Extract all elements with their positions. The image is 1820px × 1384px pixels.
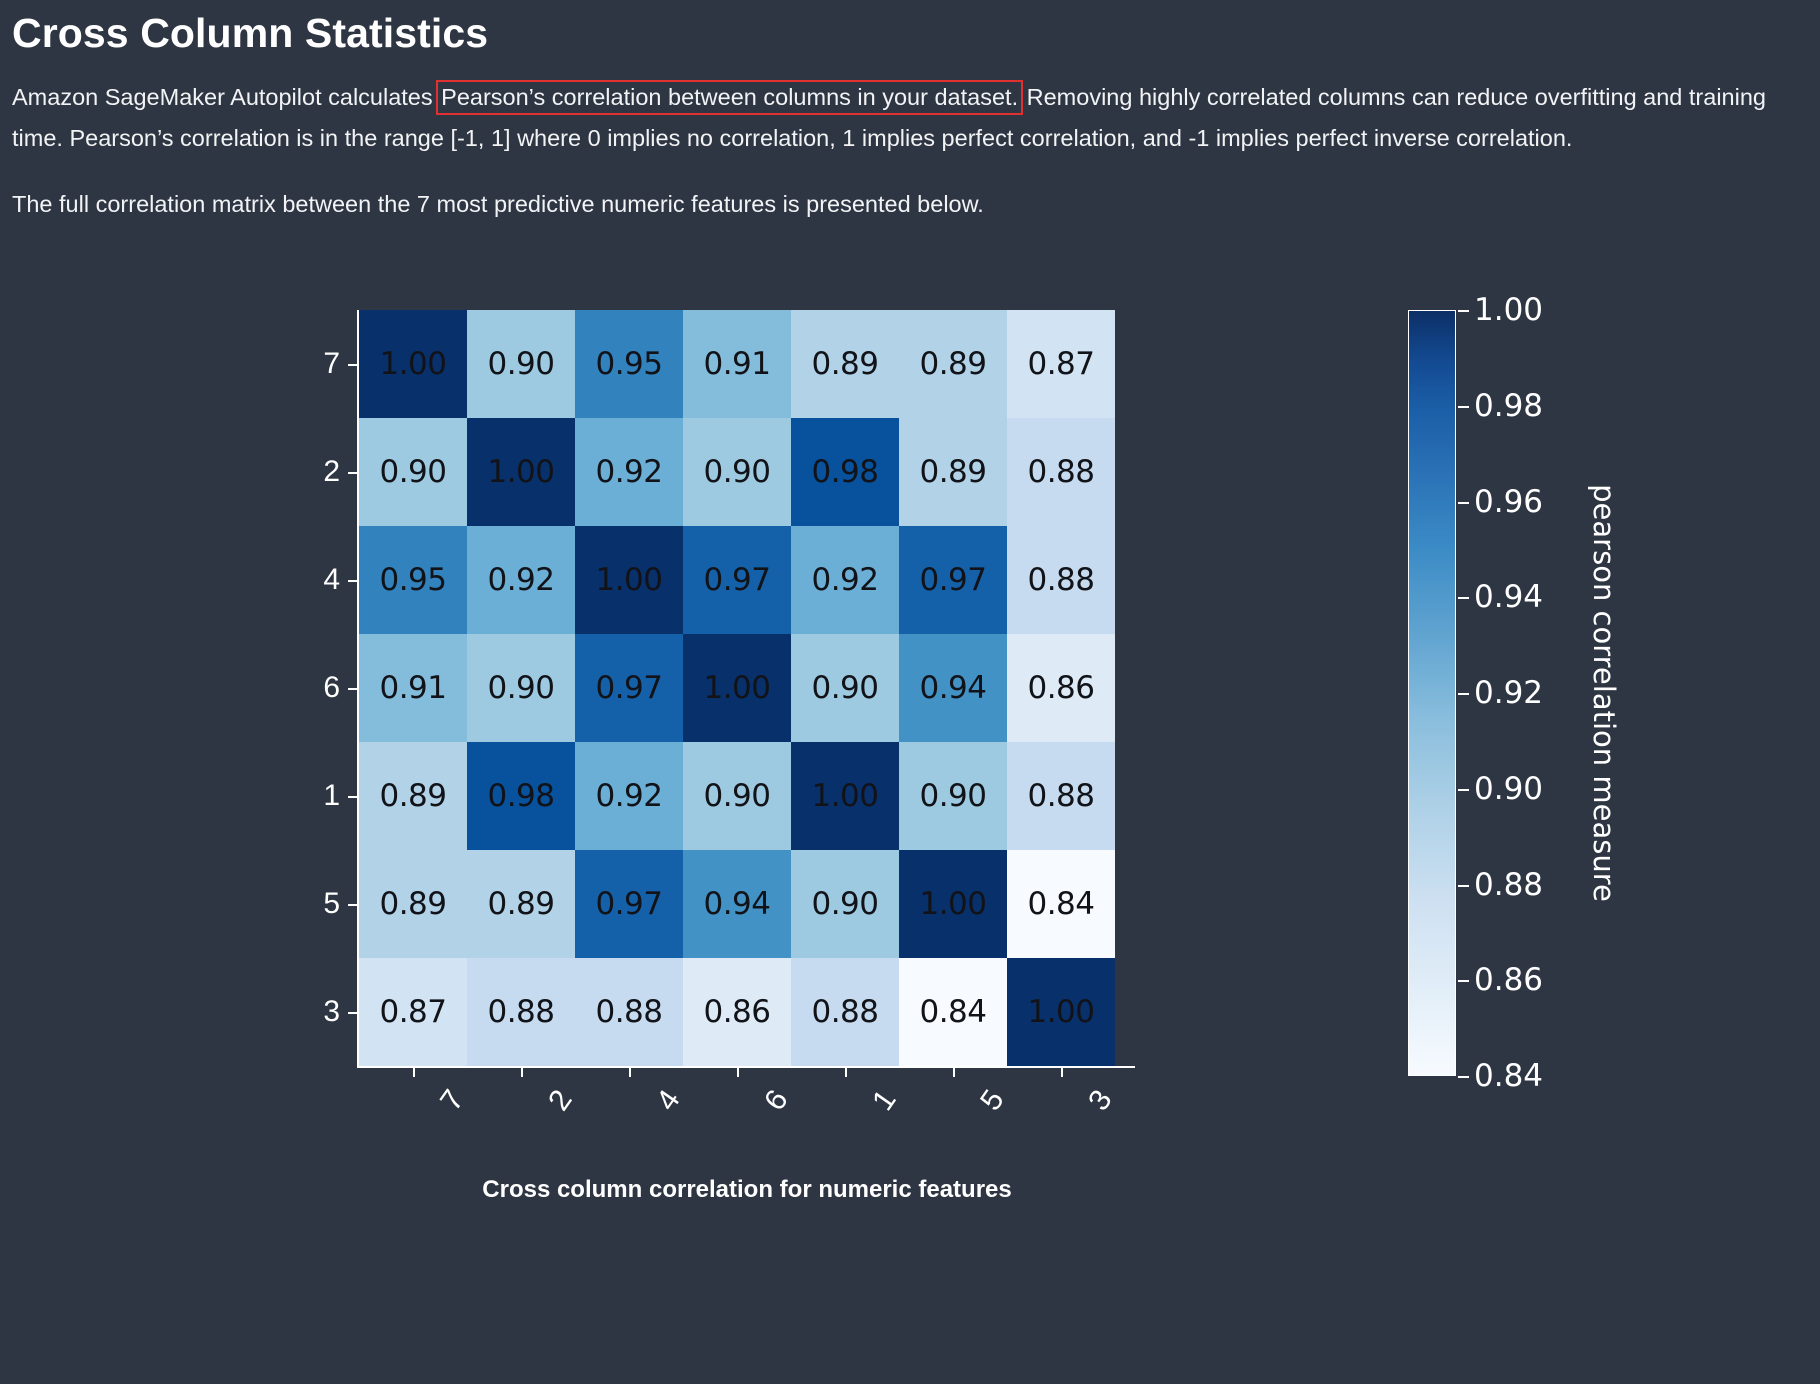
x-tick-mark xyxy=(953,1068,955,1077)
y-axis-tick-labels: 7246153 xyxy=(300,310,344,1066)
x-tick-mark xyxy=(629,1068,631,1077)
heatmap-cell: 0.90 xyxy=(683,418,791,526)
heatmap-cell: 0.95 xyxy=(359,526,467,634)
colorbar-tick-label: 0.94 xyxy=(1474,579,1543,615)
heatmap-cell: 1.00 xyxy=(359,310,467,418)
heatmap-cell: 1.00 xyxy=(467,418,575,526)
heatmap-cell: 1.00 xyxy=(791,742,899,850)
heatmap-cell: 0.88 xyxy=(1007,526,1115,634)
colorbar-tick-mark xyxy=(1458,980,1469,982)
heatmap-cell: 0.84 xyxy=(1007,850,1115,958)
heatmap-cell: 1.00 xyxy=(683,634,791,742)
colorbar-tick-mark xyxy=(1458,597,1469,599)
colorbar-tick-mark xyxy=(1458,406,1469,408)
colorbar-tick-mark xyxy=(1458,789,1469,791)
x-tick-mark xyxy=(1061,1068,1063,1077)
colorbar-tick-label: 0.90 xyxy=(1474,771,1543,807)
heatmap-cell: 0.90 xyxy=(683,742,791,850)
x-axis-line xyxy=(357,1066,1135,1068)
y-axis-tick-6: 6 xyxy=(300,634,344,742)
colorbar-tick-mark xyxy=(1458,502,1469,504)
heatmap-cell: 0.89 xyxy=(359,850,467,958)
heatmap-cell: 0.94 xyxy=(683,850,791,958)
colorbar-gradient xyxy=(1408,310,1456,1076)
heatmap-cell: 0.88 xyxy=(1007,742,1115,850)
heatmap-cell: 0.90 xyxy=(899,742,1007,850)
y-axis-tick-3: 3 xyxy=(300,958,344,1066)
y-tick-mark xyxy=(348,904,357,906)
heatmap-cell: 1.00 xyxy=(575,526,683,634)
heatmap-cell: 0.91 xyxy=(683,310,791,418)
x-tick-mark xyxy=(845,1068,847,1077)
colorbar-tick-label: 0.88 xyxy=(1474,867,1543,903)
heatmap-cell: 0.86 xyxy=(683,958,791,1066)
heatmap-cell: 0.97 xyxy=(575,634,683,742)
y-axis-tick-1: 1 xyxy=(300,742,344,850)
x-axis-tick-5: 5 xyxy=(974,1084,1011,1117)
heatmap-cell: 0.89 xyxy=(467,850,575,958)
x-axis-tick-1: 1 xyxy=(866,1084,903,1117)
x-axis-tick-4: 4 xyxy=(650,1084,687,1117)
correlation-heatmap-figure: 7246153 1.000.900.950.910.890.890.870.90… xyxy=(0,278,1820,1384)
colorbar-tick-label: 0.98 xyxy=(1474,388,1543,424)
heatmap-grid: 1.000.900.950.910.890.890.870.901.000.92… xyxy=(359,310,1115,1066)
heatmap-cell: 0.90 xyxy=(467,310,575,418)
heatmap-cell: 0.87 xyxy=(359,958,467,1066)
matrix-description: The full correlation matrix between the … xyxy=(0,158,1790,224)
heatmap-cell: 0.97 xyxy=(899,526,1007,634)
heatmap-cell: 0.90 xyxy=(467,634,575,742)
colorbar-tick-label: 1.00 xyxy=(1474,292,1543,328)
heatmap-cell: 0.92 xyxy=(467,526,575,634)
colorbar-tick-label: 0.86 xyxy=(1474,962,1543,998)
y-axis-tick-4: 4 xyxy=(300,526,344,634)
highlighted-phrase: Pearson’s correlation between columns in… xyxy=(439,83,1020,112)
heatmap-cell: 0.89 xyxy=(899,310,1007,418)
x-axis-caption: Cross column correlation for numeric fea… xyxy=(357,1176,1137,1204)
x-axis-tick-6: 6 xyxy=(758,1084,795,1117)
cross-column-statistics-page: Cross Column Statistics Amazon SageMaker… xyxy=(0,0,1820,1384)
x-axis-tick-3: 3 xyxy=(1082,1084,1119,1117)
heatmap-cell: 0.84 xyxy=(899,958,1007,1066)
y-axis-tick-5: 5 xyxy=(300,850,344,958)
y-tick-mark xyxy=(348,796,357,798)
intro-paragraph-pre: Amazon SageMaker Autopilot calculates xyxy=(12,84,439,110)
heatmap-cell: 0.89 xyxy=(359,742,467,850)
heatmap-cell: 0.86 xyxy=(1007,634,1115,742)
y-tick-mark xyxy=(348,364,357,366)
heatmap-cell: 0.91 xyxy=(359,634,467,742)
intro-paragraph: Amazon SageMaker Autopilot calculates Pe… xyxy=(0,59,1790,158)
y-tick-mark xyxy=(348,688,357,690)
heatmap-cell: 0.90 xyxy=(791,634,899,742)
heatmap-cell: 0.97 xyxy=(683,526,791,634)
heatmap-cell: 0.89 xyxy=(791,310,899,418)
x-tick-mark xyxy=(413,1068,415,1077)
heatmap-cell: 0.97 xyxy=(575,850,683,958)
heatmap-cell: 0.92 xyxy=(575,418,683,526)
heatmap-cell: 0.95 xyxy=(575,310,683,418)
heatmap-cell: 0.94 xyxy=(899,634,1007,742)
heatmap-cell: 0.88 xyxy=(1007,418,1115,526)
colorbar-tick-mark xyxy=(1458,693,1469,695)
heatmap-cell: 0.98 xyxy=(791,418,899,526)
colorbar-tick-label: 0.84 xyxy=(1474,1058,1543,1094)
heatmap-cell: 0.89 xyxy=(899,418,1007,526)
heatmap-cell: 1.00 xyxy=(899,850,1007,958)
heatmap-cell: 0.88 xyxy=(575,958,683,1066)
colorbar-tick-label: 0.92 xyxy=(1474,675,1543,711)
y-axis-tick-7: 7 xyxy=(300,310,344,418)
x-axis-tick-2: 2 xyxy=(542,1084,579,1117)
y-axis-tick-2: 2 xyxy=(300,418,344,526)
heatmap-cell: 0.98 xyxy=(467,742,575,850)
colorbar-title: pearson correlation measure xyxy=(1587,484,1621,902)
heatmap-cell: 0.90 xyxy=(791,850,899,958)
x-axis-tick-7: 7 xyxy=(434,1084,471,1117)
heatmap-cell: 0.88 xyxy=(467,958,575,1066)
colorbar-tick-mark xyxy=(1458,1076,1469,1078)
heatmap-cell: 0.88 xyxy=(791,958,899,1066)
heatmap-cell: 0.87 xyxy=(1007,310,1115,418)
heatmap-cell: 0.92 xyxy=(791,526,899,634)
page-title: Cross Column Statistics xyxy=(0,0,1820,59)
y-tick-mark xyxy=(348,1012,357,1014)
x-tick-mark xyxy=(521,1068,523,1077)
colorbar-tick-mark xyxy=(1458,885,1469,887)
heatmap-cell: 0.92 xyxy=(575,742,683,850)
colorbar-tick-label: 0.96 xyxy=(1474,484,1543,520)
heatmap-cell: 1.00 xyxy=(1007,958,1115,1066)
y-tick-mark xyxy=(348,580,357,582)
x-tick-mark xyxy=(737,1068,739,1077)
y-tick-mark xyxy=(348,472,357,474)
heatmap-cell: 0.90 xyxy=(359,418,467,526)
colorbar-tick-mark xyxy=(1458,310,1469,312)
